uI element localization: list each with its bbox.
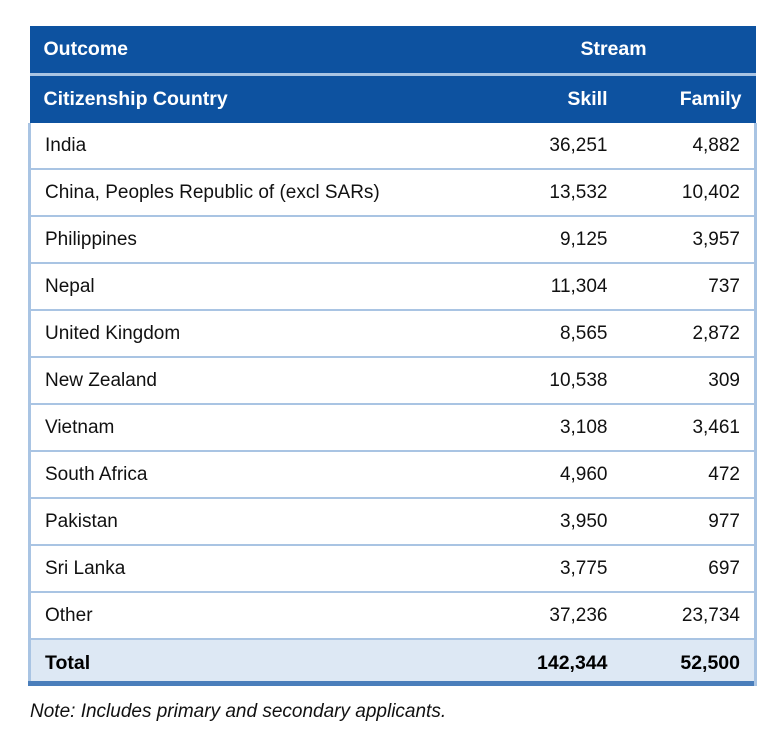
- header-stream: Stream: [472, 26, 756, 73]
- cell-total-family: 52,500: [622, 639, 756, 686]
- page-root: Outcome Stream Citizenship Country Skill…: [0, 0, 771, 735]
- cell-family: 10,402: [622, 169, 756, 216]
- table-row: Nepal 11,304 737: [30, 263, 756, 310]
- outcome-stream-table: Outcome Stream Citizenship Country Skill…: [28, 26, 757, 686]
- header-citizenship-country: Citizenship Country: [30, 76, 472, 123]
- table-row: China, Peoples Republic of (excl SARs) 1…: [30, 169, 756, 216]
- table-row: Vietnam 3,108 3,461: [30, 404, 756, 451]
- table-row: Other 37,236 23,734: [30, 592, 756, 639]
- table-row: South Africa 4,960 472: [30, 451, 756, 498]
- cell-family: 4,882: [622, 123, 756, 169]
- cell-skill: 37,236: [472, 592, 622, 639]
- cell-family: 737: [622, 263, 756, 310]
- cell-skill: 3,950: [472, 498, 622, 545]
- cell-family: 472: [622, 451, 756, 498]
- table-bottom-rule: [28, 681, 754, 686]
- header-row-sub: Citizenship Country Skill Family: [30, 76, 756, 123]
- cell-skill: 36,251: [472, 123, 622, 169]
- cell-family: 3,957: [622, 216, 756, 263]
- cell-family: 977: [622, 498, 756, 545]
- cell-country: South Africa: [30, 451, 472, 498]
- table-note: Note: Includes primary and secondary app…: [30, 701, 446, 723]
- table-header: Outcome Stream Citizenship Country Skill…: [30, 26, 756, 123]
- table-row: India 36,251 4,882: [30, 123, 756, 169]
- table-body: India 36,251 4,882 China, Peoples Republ…: [30, 123, 756, 686]
- header-row-top: Outcome Stream: [30, 26, 756, 73]
- cell-skill: 11,304: [472, 263, 622, 310]
- cell-country: China, Peoples Republic of (excl SARs): [30, 169, 472, 216]
- cell-family: 697: [622, 545, 756, 592]
- cell-total-label: Total: [30, 639, 472, 686]
- cell-country: United Kingdom: [30, 310, 472, 357]
- cell-skill: 13,532: [472, 169, 622, 216]
- cell-country: Philippines: [30, 216, 472, 263]
- table-row: Sri Lanka 3,775 697: [30, 545, 756, 592]
- table-row: Philippines 9,125 3,957: [30, 216, 756, 263]
- table-row: New Zealand 10,538 309: [30, 357, 756, 404]
- cell-family: 2,872: [622, 310, 756, 357]
- outcome-stream-table-container: Outcome Stream Citizenship Country Skill…: [28, 26, 754, 686]
- cell-country: New Zealand: [30, 357, 472, 404]
- cell-country: Other: [30, 592, 472, 639]
- table-row: Pakistan 3,950 977: [30, 498, 756, 545]
- cell-family: 309: [622, 357, 756, 404]
- cell-family: 3,461: [622, 404, 756, 451]
- cell-skill: 9,125: [472, 216, 622, 263]
- header-skill: Skill: [472, 76, 622, 123]
- cell-skill: 3,108: [472, 404, 622, 451]
- cell-skill: 10,538: [472, 357, 622, 404]
- cell-country: Vietnam: [30, 404, 472, 451]
- cell-country: India: [30, 123, 472, 169]
- cell-total-skill: 142,344: [472, 639, 622, 686]
- cell-country: Pakistan: [30, 498, 472, 545]
- header-outcome: Outcome: [30, 26, 472, 73]
- table-row: United Kingdom 8,565 2,872: [30, 310, 756, 357]
- header-family: Family: [622, 76, 756, 123]
- cell-country: Sri Lanka: [30, 545, 472, 592]
- cell-country: Nepal: [30, 263, 472, 310]
- cell-skill: 8,565: [472, 310, 622, 357]
- cell-skill: 3,775: [472, 545, 622, 592]
- cell-family: 23,734: [622, 592, 756, 639]
- table-total-row: Total 142,344 52,500: [30, 639, 756, 686]
- cell-skill: 4,960: [472, 451, 622, 498]
